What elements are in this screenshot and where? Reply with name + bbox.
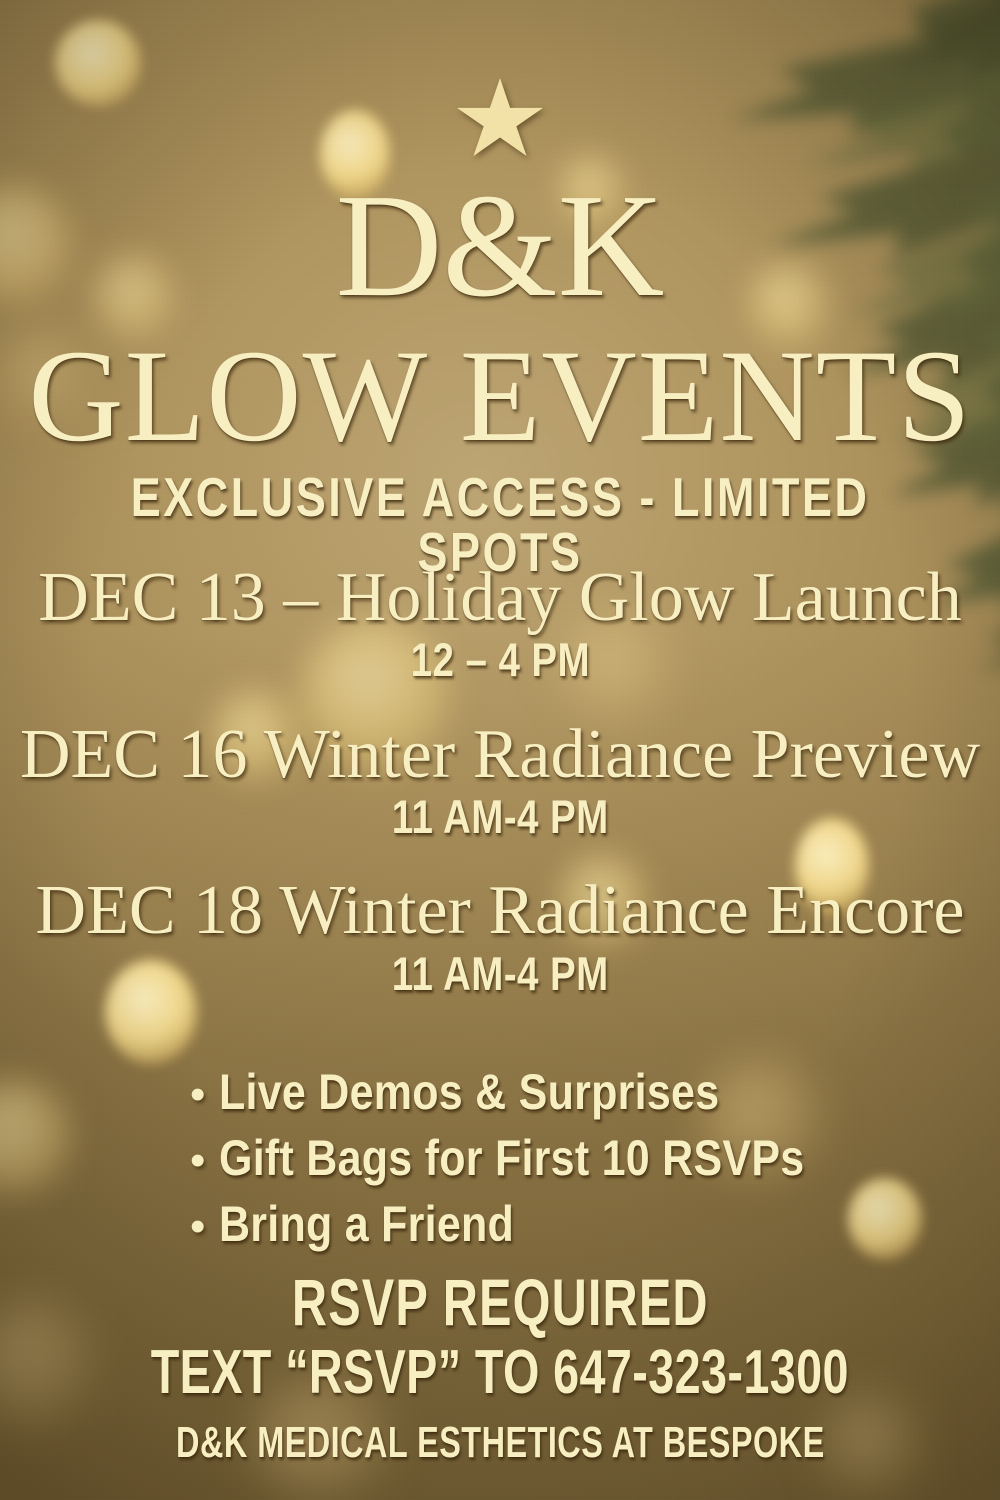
event-time-container: 11 AM-4 PM [0, 949, 1000, 998]
list-item-text: Live Demos & Surprises [219, 1063, 719, 1122]
bullet-icon: • [190, 1205, 205, 1249]
event-item: DEC 13 – Holiday Glow Launch 12 – 4 PM [0, 562, 1000, 685]
list-item: • Live Demos & Surprises [190, 1063, 810, 1122]
venue-text: D&K MEDICAL ESTHETICS AT BESPOKE [176, 1419, 825, 1467]
list-item-text: Bring a Friend [219, 1195, 514, 1254]
event-item: DEC 18 Winter Radiance Encore 11 AM-4 PM [0, 875, 1000, 998]
event-title: DEC 13 – Holiday Glow Launch [0, 562, 1000, 633]
list-item-text: Gift Bags for First 10 RSVPs [219, 1129, 804, 1188]
event-time-container: 11 AM-4 PM [0, 792, 1000, 841]
rsvp-phone-text: TEXT “RSVP” TO 647-323-1300 [151, 1340, 849, 1407]
poster-canvas: D&K GLOW EVENTS EXCLUSIVE ACCESS - LIMIT… [0, 0, 1000, 1500]
event-item: DEC 16 Winter Radiance Preview 11 AM-4 P… [0, 719, 1000, 842]
event-time: 11 AM-4 PM [392, 792, 609, 841]
rsvp-required-text: RSVP REQUIRED [292, 1268, 709, 1338]
list-item: • Gift Bags for First 10 RSVPs [190, 1129, 810, 1188]
event-time-container: 12 – 4 PM [0, 635, 1000, 684]
event-title: DEC 18 Winter Radiance Encore [0, 875, 1000, 946]
list-item-label: Live Demos & Surprises [219, 1063, 801, 1122]
venue-name: D&K MEDICAL ESTHETICS AT BESPOKE [90, 1419, 910, 1467]
event-title: DEC 16 Winter Radiance Preview [0, 719, 1000, 790]
rsvp-required-heading: RSVP REQUIRED [90, 1268, 910, 1338]
brand-logo: D&K [0, 172, 1000, 320]
list-item-label: Bring a Friend [219, 1195, 562, 1254]
bullet-icon: • [190, 1139, 205, 1183]
rsvp-phone-cta[interactable]: TEXT “RSVP” TO 647-323-1300 [90, 1340, 910, 1407]
footer-cta: RSVP REQUIRED TEXT “RSVP” TO 647-323-130… [0, 1268, 1000, 1467]
page-title: GLOW EVENTS [0, 330, 1000, 462]
event-time: 11 AM-4 PM [392, 949, 609, 998]
event-time: 12 – 4 PM [410, 635, 589, 684]
list-item: • Bring a Friend [190, 1195, 810, 1254]
list-item-label: Gift Bags for First 10 RSVPs [219, 1129, 900, 1188]
star-icon [457, 78, 543, 160]
poster-content: D&K GLOW EVENTS EXCLUSIVE ACCESS - LIMIT… [0, 0, 1000, 1500]
perks-list: • Live Demos & Surprises • Gift Bags for… [0, 1063, 1000, 1261]
bullet-icon: • [190, 1073, 205, 1117]
event-list: DEC 13 – Holiday Glow Launch 12 – 4 PM D… [0, 562, 1000, 998]
star-icon-container [0, 78, 1000, 160]
